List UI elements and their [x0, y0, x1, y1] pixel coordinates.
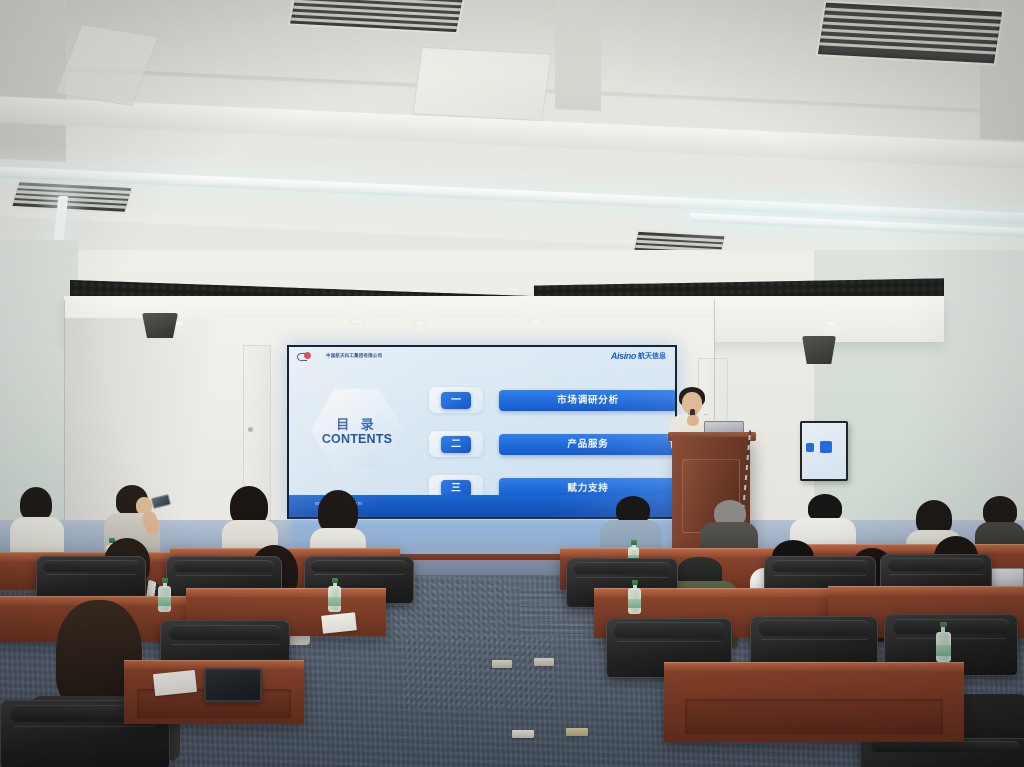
- wall-confidence-monitor: [800, 421, 848, 481]
- agenda-item-1[interactable]: 一 市场调研分析: [429, 387, 677, 413]
- wall-speaker: [142, 313, 178, 338]
- presenter-hands: [687, 415, 699, 426]
- notepad: [321, 612, 357, 633]
- agenda-label-bar: 产品服务: [499, 434, 677, 455]
- recessed-downlight: [528, 318, 544, 325]
- agenda-label-bar: 市场调研分析: [499, 390, 677, 411]
- floor-outlet-plate: [566, 728, 588, 736]
- attendee: [10, 487, 64, 562]
- ceiling-access-panel: [412, 47, 552, 121]
- water-bottle: [936, 622, 951, 662]
- floor-outlet-plate: [512, 730, 534, 738]
- laptop-screen: [988, 568, 1024, 587]
- floor-outlet-plate: [534, 658, 554, 666]
- recessed-downlight: [412, 320, 428, 327]
- attendee-laptop: [988, 568, 1022, 588]
- agenda-item-2[interactable]: 二 产品服务: [429, 431, 677, 457]
- water-bottle: [328, 578, 341, 612]
- office-chair[interactable]: [860, 738, 1024, 767]
- contents-title-cn: 目 录: [311, 414, 403, 433]
- casic-logo: 中国航天科工集团有限公司: [297, 351, 382, 360]
- ceiling-air-vent: [10, 180, 134, 214]
- notepad: [153, 670, 197, 696]
- agenda-number-plate: 一: [429, 387, 483, 413]
- floor-outlet-plate: [492, 660, 512, 668]
- agenda-number-badge: 二: [441, 436, 471, 453]
- contents-hexagon: 目 录 CONTENTS: [311, 387, 403, 473]
- monitor-screen: [802, 423, 846, 479]
- aisino-logo: Aisino 航天信息: [611, 351, 666, 361]
- recessed-downlight: [823, 320, 839, 327]
- desk: [664, 662, 964, 742]
- agenda-number-badge: 三: [441, 480, 471, 497]
- casic-logo-icon: [297, 351, 323, 360]
- casic-logo-text: 中国航天科工集团有限公司: [326, 352, 382, 358]
- conference-room-photo: 中国航天科工集团有限公司 Aisino 航天信息 目 录 CONTENTS 一 …: [0, 0, 1024, 767]
- aisino-logo-en: Aisino: [611, 351, 636, 361]
- ceiling-rib: [0, 0, 66, 162]
- ceiling-rib: [555, 0, 601, 111]
- ceiling-air-vent: [816, 1, 1005, 66]
- tablet[interactable]: [204, 668, 262, 702]
- aisino-logo-cn: 航天信息: [638, 351, 666, 361]
- contents-title-en: CONTENTS: [311, 432, 403, 446]
- slide-header: 中国航天科工集团有限公司 Aisino 航天信息: [289, 347, 675, 367]
- water-bottle: [628, 580, 641, 614]
- attendee-hair: [20, 487, 52, 521]
- carpet-tile: [404, 635, 554, 709]
- wall-speaker: [802, 336, 836, 364]
- recessed-downlight: [349, 318, 365, 325]
- agenda-number-plate: 二: [429, 431, 483, 457]
- agenda-number-badge: 一: [441, 392, 471, 409]
